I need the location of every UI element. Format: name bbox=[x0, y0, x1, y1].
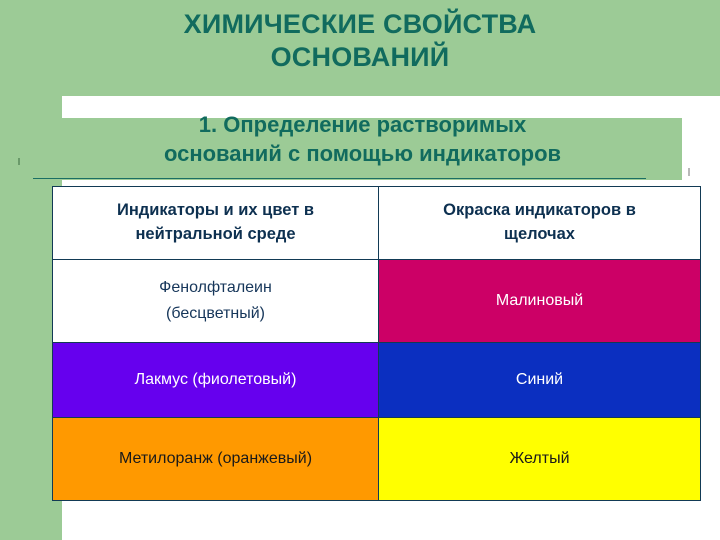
table-header-alkali-color-line-2: щелочах bbox=[379, 223, 700, 247]
tick-mark-left bbox=[18, 158, 20, 165]
cell-result-crimson: Малиновый bbox=[379, 260, 701, 343]
slide-subtitle-line-1: 1. Определение растворимых bbox=[40, 110, 685, 139]
tick-mark-right bbox=[688, 168, 690, 176]
slide-subtitle: 1. Определение растворимых оснований с п… bbox=[40, 110, 685, 168]
slide-title-line-1: ХИМИЧЕСКИЕ СВОЙСТВА bbox=[0, 8, 720, 41]
cell-indicator-phenolphthalein: Фенолфталеин (бесцветный) bbox=[53, 260, 379, 343]
table-header-indicators: Индикаторы и их цвет в нейтральной среде bbox=[53, 187, 379, 260]
table-row: Фенолфталеин (бесцветный) Малиновый bbox=[53, 260, 701, 343]
table-header-alkali-color-line-1: Окраска индикаторов в bbox=[379, 199, 700, 223]
indicators-table: Индикаторы и их цвет в нейтральной среде… bbox=[52, 186, 701, 501]
table-header-alkali-color: Окраска индикаторов в щелочах bbox=[379, 187, 701, 260]
table-row: Метилоранж (оранжевый) Желтый bbox=[53, 418, 701, 501]
cell-indicator-litmus: Лакмус (фиолетовый) bbox=[53, 343, 379, 418]
cell-indicator-phenolphthalein-line-1: Фенолфталеин bbox=[53, 275, 378, 301]
slide-canvas: ХИМИЧЕСКИЕ СВОЙСТВА ОСНОВАНИЙ 1. Определ… bbox=[0, 0, 720, 540]
table-header-indicators-line-1: Индикаторы и их цвет в bbox=[53, 199, 378, 223]
slide-title-line-2: ОСНОВАНИЙ bbox=[0, 41, 720, 74]
cell-indicator-methyl-orange: Метилоранж (оранжевый) bbox=[53, 418, 379, 501]
slide-subtitle-line-2: оснований с помощью индикаторов bbox=[40, 139, 685, 168]
table-header-indicators-line-2: нейтральной среде bbox=[53, 223, 378, 247]
table-row: Лакмус (фиолетовый) Синий bbox=[53, 343, 701, 418]
cell-indicator-phenolphthalein-line-2: (бесцветный) bbox=[53, 301, 378, 327]
cell-result-blue: Синий bbox=[379, 343, 701, 418]
slide-title: ХИМИЧЕСКИЕ СВОЙСТВА ОСНОВАНИЙ bbox=[0, 8, 720, 74]
table-header-row: Индикаторы и их цвет в нейтральной среде… bbox=[53, 187, 701, 260]
cell-result-yellow: Желтый bbox=[379, 418, 701, 501]
divider-hairline bbox=[33, 178, 646, 179]
